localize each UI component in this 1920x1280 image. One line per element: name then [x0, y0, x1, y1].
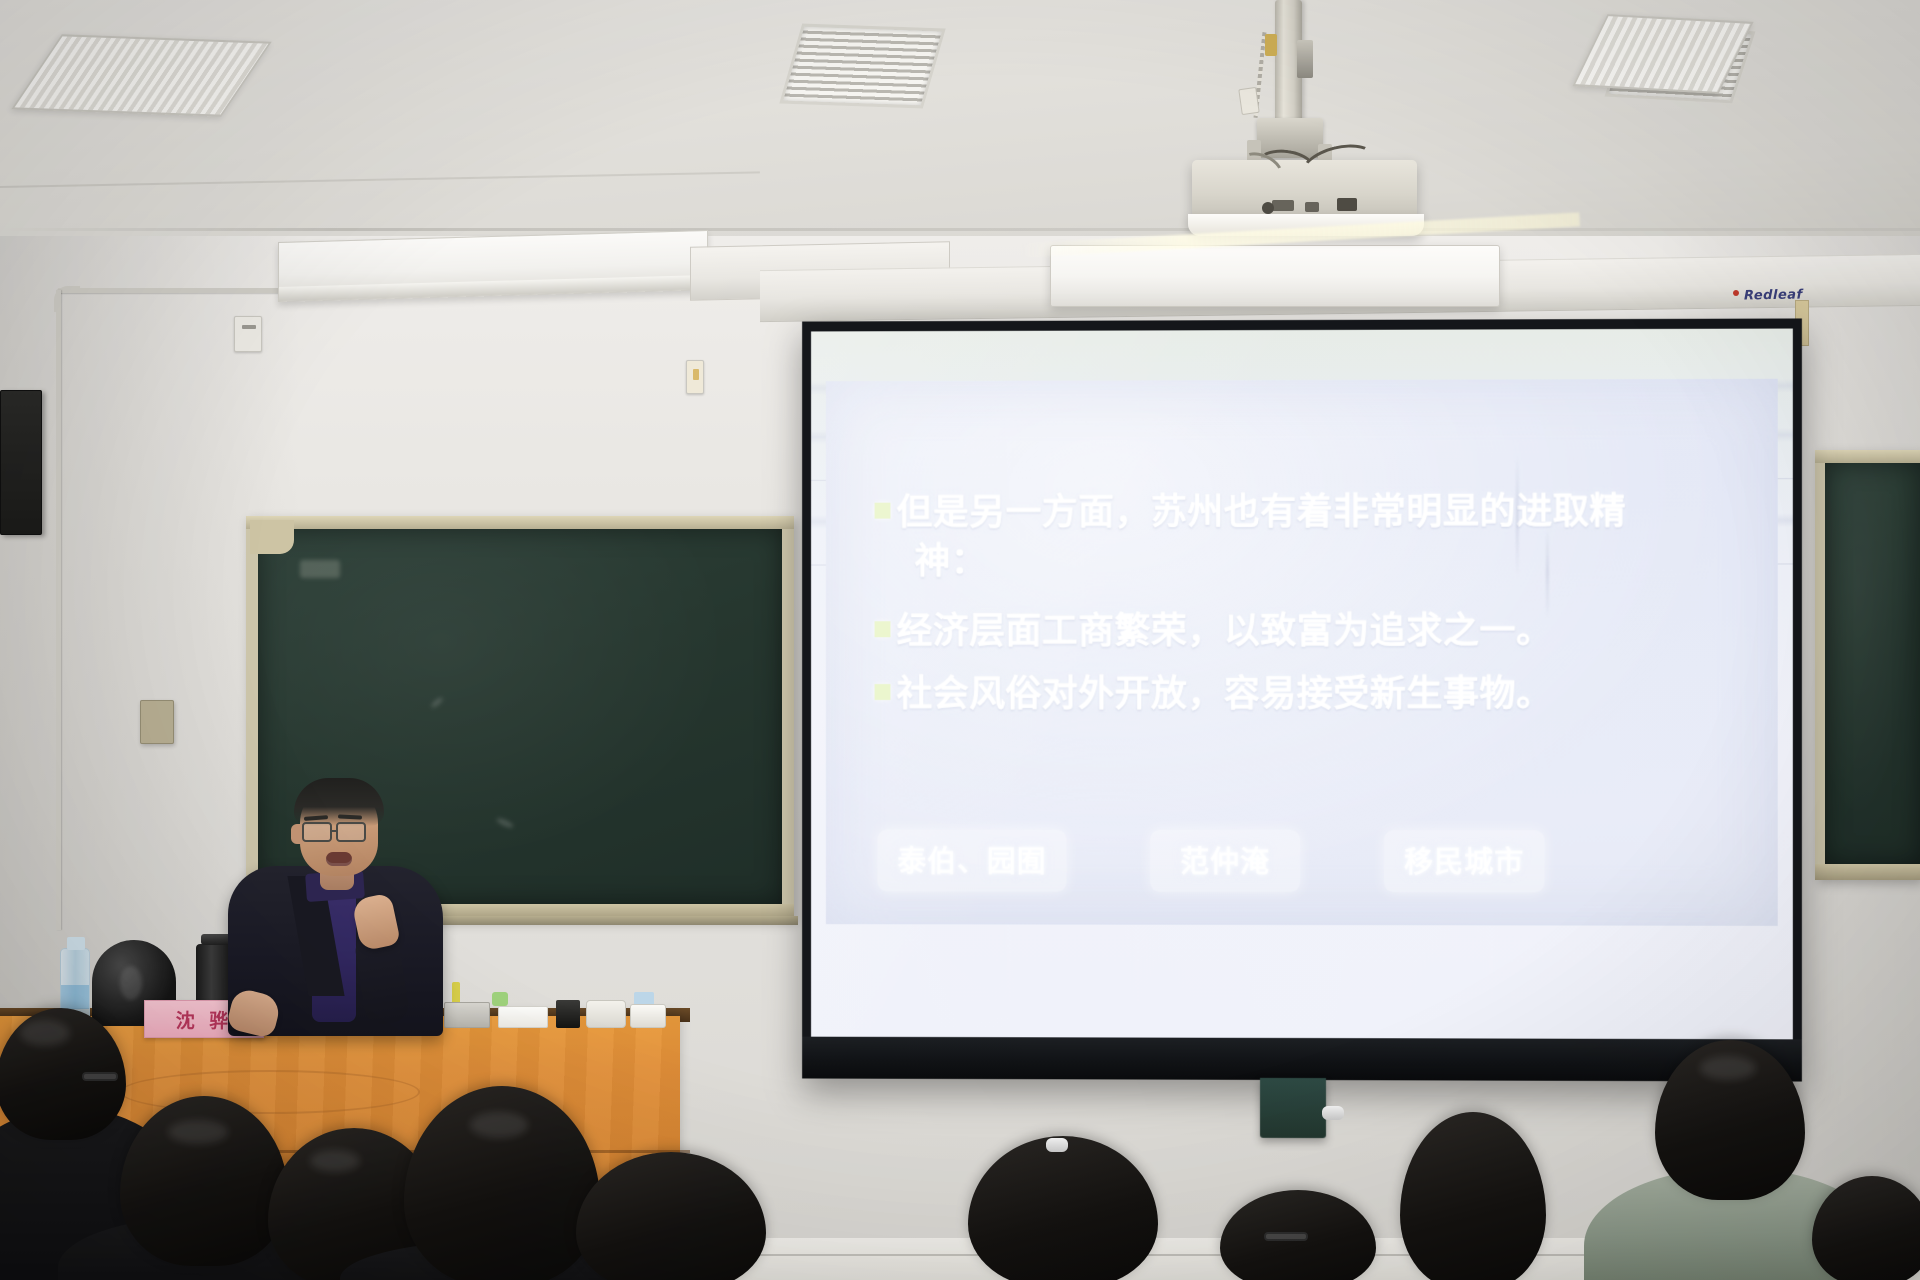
projected-slide: 但是另一方面，苏州也有着非常明显的进取精 神： 经济层面工商繁荣，以致富为追求之…	[826, 378, 1778, 925]
slide-bullet-list: 但是另一方面，苏州也有着非常明显的进取精 神： 经济层面工商繁荣，以致富为追求之…	[875, 488, 1732, 735]
hair-highlight	[470, 1112, 528, 1138]
slide-link-button-yimin[interactable]: 移民城市	[1384, 830, 1544, 892]
slide-link-button-fanzhongyan[interactable]: 范仲淹	[1150, 830, 1300, 892]
screen-bottom-weight	[1260, 1078, 1326, 1138]
wall-outlet-left[interactable]	[234, 316, 262, 352]
lecturer-mouth-speaking	[326, 852, 352, 866]
hair-highlight	[20, 1020, 70, 1046]
desk-box-small	[630, 1004, 666, 1028]
slide-bullet-item: 经济层面工商繁荣，以致富为追求之一。	[875, 607, 1732, 655]
projector-port-hdmi	[1305, 202, 1319, 212]
lecture-hall-scene: Redleaf	[0, 0, 1920, 1280]
desk-tissue-box	[586, 1000, 626, 1028]
projector-port-vga	[1272, 200, 1294, 211]
ceiling-air-vent-center	[779, 23, 945, 108]
hair-highlight	[310, 1150, 360, 1172]
audience-glasses-icon	[1264, 1232, 1308, 1241]
wall-light-valance-left	[278, 230, 708, 302]
desk-cup-black	[556, 1000, 580, 1028]
screen-scuff	[1516, 457, 1518, 577]
projector-tag	[1238, 87, 1259, 115]
wall-switch-right[interactable]	[686, 360, 704, 394]
bottle-label	[61, 985, 89, 1009]
screen-bottom-bar	[802, 1037, 1802, 1082]
glasses-lens-left-icon	[302, 822, 332, 842]
chalkboard-corner-chip	[250, 520, 294, 554]
chalkboard-frame-bottom	[1815, 864, 1920, 880]
slide-bullet-text-wrap: 神：	[897, 539, 987, 586]
slide-link-button-taibo[interactable]: 泰伯、园囿	[878, 830, 1067, 892]
hair-highlight	[1700, 1056, 1756, 1080]
bottle-cap	[67, 937, 85, 950]
chalk-smudge	[300, 560, 340, 578]
hair-tie	[1046, 1138, 1068, 1152]
slide-bullet-continuation: 神：	[875, 538, 1732, 586]
slide-button-row: 泰伯、园囿 范仲淹 移民城市	[878, 830, 1545, 893]
projector-focus-knob[interactable]	[1262, 202, 1274, 214]
square-bullet-icon	[875, 621, 891, 637]
conduit-vertical	[56, 290, 61, 930]
chalkboard-slate	[1825, 463, 1920, 864]
square-bullet-icon	[875, 684, 891, 700]
projector-chain-clip	[1265, 34, 1277, 56]
brand-dot-icon	[1733, 290, 1739, 296]
projector-port-power	[1337, 198, 1357, 211]
desk-marker-green	[492, 992, 508, 1006]
eraser-holder	[140, 700, 174, 744]
hair-highlight	[168, 1120, 228, 1144]
square-bullet-icon	[875, 502, 891, 518]
screen-scuff	[1546, 528, 1548, 618]
wall-speaker	[0, 390, 42, 535]
projector-pole-collar	[1297, 40, 1313, 78]
screen-brand-label: Redleaf	[1744, 287, 1803, 303]
slide-bullet-text: 经济层面工商繁荣，以致富为追求之一。	[897, 607, 1553, 655]
glasses-lens-right-icon	[336, 822, 366, 842]
chalkboard-right	[1815, 450, 1920, 880]
ceiling-seam	[0, 228, 1920, 231]
chalkboard-frame-top	[1815, 450, 1920, 463]
lecturer	[228, 780, 488, 1030]
projection-screen-housing	[1050, 245, 1500, 307]
slide-bullet-text: 社会风俗对外开放，容易接受新生事物。	[897, 671, 1553, 719]
hair-tie	[1322, 1106, 1344, 1120]
slide-bullet-item: 但是另一方面，苏州也有着非常明显的进取精	[875, 488, 1732, 537]
slide-bullet-item: 社会风俗对外开放，容易接受新生事物。	[875, 671, 1732, 719]
chalkboard-frame-top	[246, 516, 794, 529]
screen-surface: 但是另一方面，苏州也有着非常明显的进取精 神： 经济层面工商繁荣，以致富为追求之…	[811, 329, 1793, 1040]
audience-glasses-icon	[82, 1072, 118, 1081]
desk-box-white	[498, 1006, 548, 1028]
projection-screen: 但是另一方面，苏州也有着非常明显的进取精 神： 经济层面工商繁荣，以致富为追求之…	[802, 318, 1802, 1081]
